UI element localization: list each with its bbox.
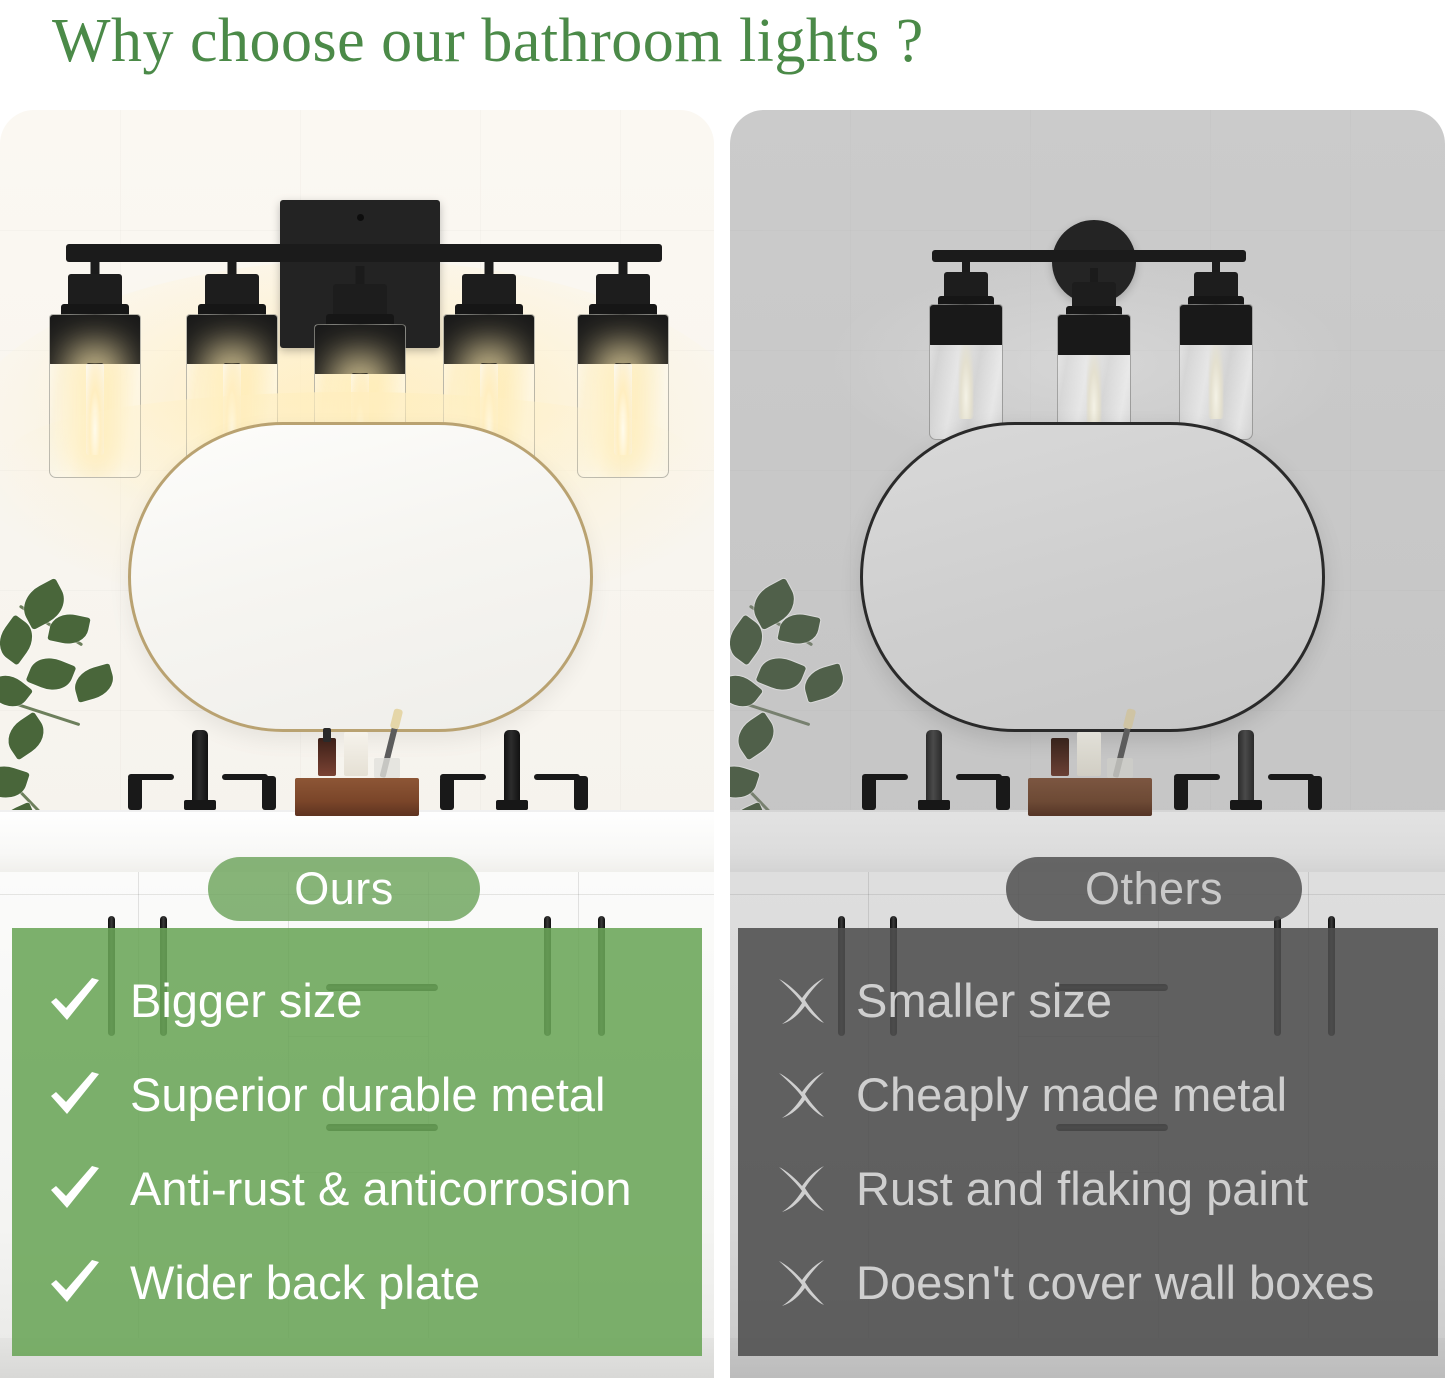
badge-ours-label: Ours	[294, 863, 394, 915]
feature-label: Wider back plate	[130, 1258, 480, 1307]
feature-row: Anti-rust & anticorrosion	[46, 1145, 702, 1233]
lamp-1	[40, 256, 150, 496]
cross-icon	[772, 977, 830, 1025]
faucet-left	[118, 730, 298, 816]
features-others: Smaller size Cheaply made metal Rust and…	[738, 928, 1438, 1356]
feature-label: Anti-rust & anticorrosion	[130, 1164, 632, 1213]
bathroom-mirror	[860, 422, 1325, 732]
bathroom-mirror	[128, 422, 593, 732]
feature-row: Bigger size	[46, 957, 702, 1045]
toiletry-tray	[1028, 778, 1152, 816]
feature-row: Rust and flaking paint	[772, 1145, 1438, 1233]
dropper-bottle	[1051, 738, 1069, 776]
feature-row: Wider back plate	[46, 1239, 702, 1327]
toiletry-tray	[295, 778, 419, 816]
feature-row: Cheaply made metal	[772, 1051, 1438, 1139]
cross-icon	[772, 1259, 830, 1307]
comparison-infographic: Why choose our bathroom lights ?	[0, 0, 1445, 1378]
feature-label: Superior durable metal	[130, 1070, 606, 1119]
white-bottle	[1077, 732, 1101, 776]
page-title: Why choose our bathroom lights ?	[52, 6, 924, 76]
feature-label: Rust and flaking paint	[856, 1164, 1308, 1213]
check-icon	[46, 1072, 104, 1118]
lamp-5	[568, 256, 678, 496]
amber-bottle	[323, 728, 331, 742]
dropper-bottle	[318, 738, 336, 776]
badge-others-label: Others	[1085, 863, 1223, 915]
feature-row: Doesn't cover wall boxes	[772, 1239, 1438, 1327]
cup	[1107, 758, 1133, 778]
feature-label: Doesn't cover wall boxes	[856, 1258, 1374, 1307]
check-icon	[46, 978, 104, 1024]
feature-label: Bigger size	[130, 976, 363, 1025]
features-ours: Bigger size Superior durable metal Anti-…	[12, 928, 702, 1356]
faucet-right	[1164, 730, 1344, 816]
white-bottle	[344, 732, 368, 776]
cup	[374, 758, 400, 778]
badge-others: Others	[1006, 857, 1302, 921]
feature-row: Smaller size	[772, 957, 1438, 1045]
feature-label: Smaller size	[856, 976, 1112, 1025]
cross-icon	[772, 1071, 830, 1119]
faucet-left	[852, 730, 1032, 816]
panel-others: Others Smaller size Cheaply made metal	[730, 110, 1445, 1378]
feature-label: Cheaply made metal	[856, 1070, 1287, 1119]
feature-row: Superior durable metal	[46, 1051, 702, 1139]
cross-icon	[772, 1165, 830, 1213]
panel-ours: Ours Bigger size Superior durable metal	[0, 110, 714, 1378]
badge-ours: Ours	[208, 857, 480, 921]
check-icon	[46, 1166, 104, 1212]
faucet-right	[430, 730, 610, 816]
check-icon	[46, 1260, 104, 1306]
